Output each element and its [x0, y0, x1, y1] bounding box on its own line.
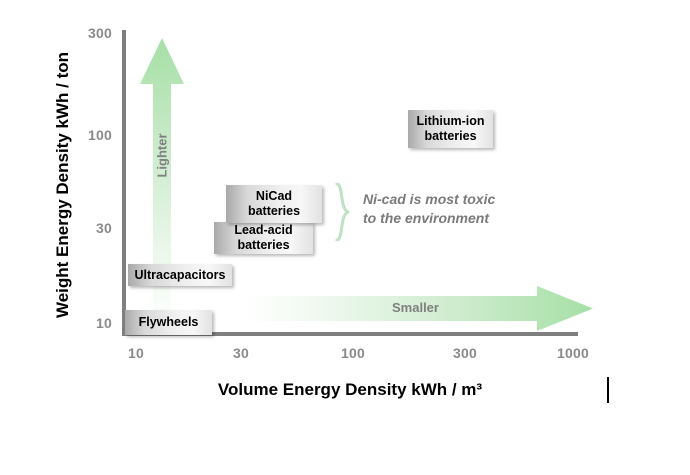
- x-tick-300: 300: [435, 345, 495, 361]
- chart-canvas: Lighter Smaller 300 100 30 10 10 30 100 …: [0, 0, 690, 475]
- y-tick-10: 10: [72, 315, 112, 331]
- x-tick-1000: 1000: [543, 345, 603, 361]
- y-tick-30: 30: [72, 220, 112, 236]
- y-tick-300: 300: [72, 25, 112, 41]
- toxicity-annotation: Ni-cad is most toxic to the environment: [363, 190, 495, 229]
- text-cursor[interactable]: [607, 377, 609, 403]
- x-tick-10: 10: [106, 345, 166, 361]
- lighter-arrow-label: Lighter: [155, 124, 170, 188]
- label-box-flywheels[interactable]: Flywheels: [125, 310, 212, 335]
- smaller-arrow-label: Smaller: [392, 300, 439, 315]
- x-tick-100: 100: [323, 345, 383, 361]
- brace-icon: [334, 183, 354, 241]
- label-box-ultracapacitors[interactable]: Ultracapacitors: [128, 264, 232, 286]
- y-axis-line: [122, 30, 126, 336]
- x-tick-30: 30: [211, 345, 271, 361]
- y-axis-title: Weight Energy Density kWh / ton: [53, 45, 73, 325]
- label-box-nicad-batteries[interactable]: NiCad batteries: [226, 185, 322, 223]
- y-tick-100: 100: [72, 127, 112, 143]
- label-box-lithium-ion-batteries[interactable]: Lithium-ion batteries: [408, 110, 493, 148]
- label-box-lead-acid-batteries[interactable]: Lead-acid batteries: [214, 222, 313, 254]
- x-axis-title: Volume Energy Density kWh / m³: [130, 380, 570, 400]
